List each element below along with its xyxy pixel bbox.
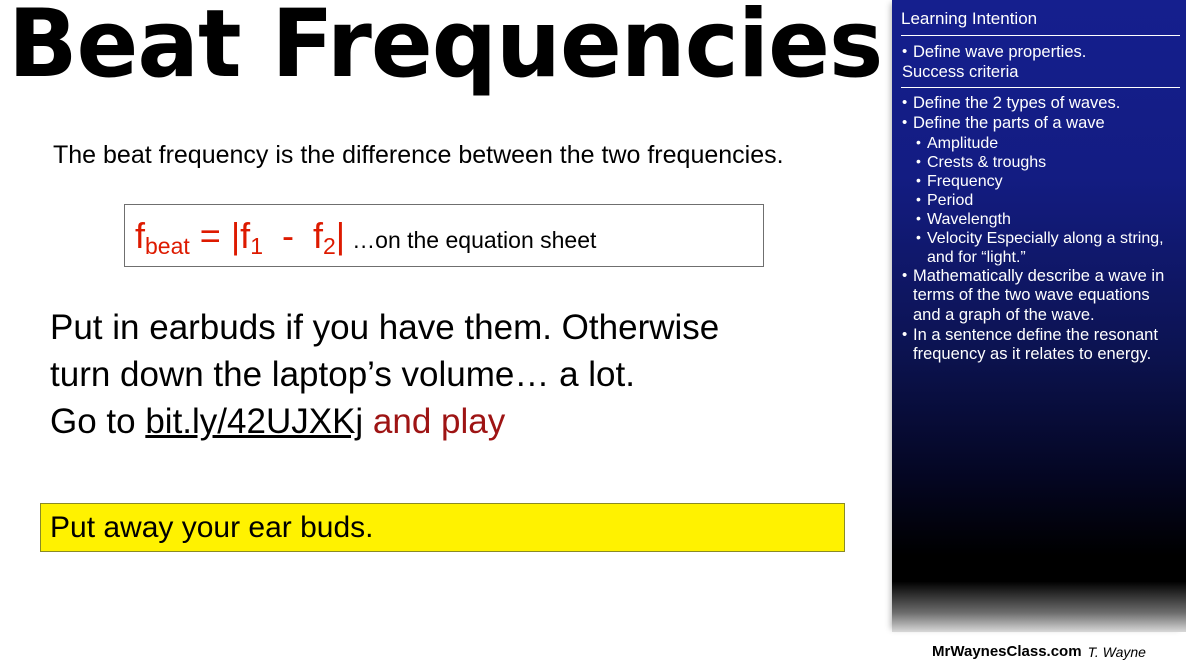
bullet-icon: • — [916, 191, 927, 208]
bitly-link[interactable]: bit.ly/42UJXKj — [145, 402, 363, 441]
formula-equals: = — [190, 215, 231, 256]
list-item: • Define the 2 types of waves. — [892, 94, 1186, 114]
learning-objectives-panel: Learning Intention • Define wave propert… — [892, 0, 1186, 632]
highlight-callout-box: Put away your ear buds. — [40, 503, 845, 552]
footer-author-name: T. Wayne — [1082, 644, 1146, 660]
bullet-icon: • — [902, 43, 913, 61]
bullet-icon: • — [916, 172, 927, 189]
formula-abs-open: | — [231, 215, 240, 256]
bullet-icon: • — [916, 153, 927, 170]
list-item: • Velocity Especially along a string, an… — [892, 229, 1186, 267]
highlight-callout-text: Put away your ear buds. — [41, 511, 374, 545]
instruction-line-3: Go to bit.ly/42UJXKj and play — [50, 399, 850, 446]
formula-f-beat-subscript: beat — [145, 233, 190, 259]
and-play-text: and play — [363, 402, 505, 441]
list-item-label: Amplitude — [927, 134, 1180, 153]
bullet-icon: • — [916, 134, 927, 151]
formula-f1-subscript: 1 — [250, 233, 263, 259]
formula-f1: f — [240, 215, 250, 256]
list-item-label: Mathematically describe a wave in terms … — [913, 267, 1180, 326]
intro-sentence: The beat frequency is the difference bet… — [53, 140, 784, 171]
footer-site-name: MrWaynesClass.com — [932, 643, 1082, 660]
instruction-line-2: turn down the laptop’s volume… a lot. — [50, 352, 850, 399]
bullet-icon: • — [902, 267, 913, 285]
bullet-icon: • — [902, 94, 913, 112]
list-item: • Frequency — [892, 172, 1186, 191]
list-item-label: Period — [927, 191, 1180, 210]
bullet-icon: • — [916, 210, 927, 227]
instruction-line-1: Put in earbuds if you have them. Otherwi… — [50, 305, 850, 352]
list-item: • Define wave properties. — [892, 43, 1186, 63]
slide-main-area: Beat Frequencies The beat frequency is t… — [0, 0, 884, 667]
list-item-label: Wavelength — [927, 210, 1180, 229]
panel-header-title: Learning Intention — [892, 0, 1186, 35]
list-item: • Period — [892, 191, 1186, 210]
formula-f-beat: f — [135, 215, 145, 256]
success-criteria-heading: Success criteria — [892, 63, 1186, 83]
learning-intention-list: • Define wave properties. Success criter… — [892, 36, 1186, 87]
footer-credit: MrWaynesClass.com T. Wayne — [892, 636, 1186, 667]
list-item-label: Define wave properties. — [913, 43, 1180, 63]
formula-abs-close: | — [336, 215, 345, 256]
list-item: • Crests & troughs — [892, 153, 1186, 172]
page-title: Beat Frequencies — [8, 0, 842, 95]
list-item-label: Crests & troughs — [927, 153, 1180, 172]
equation-sheet-note: …on the equation sheet — [345, 227, 596, 254]
list-item-label: Define the 2 types of waves. — [913, 94, 1180, 114]
list-item-label: Velocity Especially along a string, and … — [927, 229, 1180, 267]
bullet-icon: • — [916, 229, 927, 246]
list-item-label: In a sentence define the resonant freque… — [913, 326, 1180, 365]
goto-prefix: Go to — [50, 402, 145, 441]
formula-minus: - — [272, 215, 304, 256]
list-item-label: Define the parts of a wave — [913, 114, 1180, 134]
bullet-icon: • — [902, 326, 913, 344]
instruction-paragraph: Put in earbuds if you have them. Otherwi… — [50, 305, 850, 446]
list-item: • Define the parts of a wave — [892, 114, 1186, 134]
formula-box: fbeat = |f1 - f2| …on the equation sheet — [124, 204, 764, 267]
formula-f2: f — [313, 215, 323, 256]
bullet-icon: • — [902, 114, 913, 132]
success-criteria-list: • Define the 2 types of waves. • Define … — [892, 88, 1186, 365]
list-item-label: Frequency — [927, 172, 1180, 191]
list-item: • Amplitude — [892, 134, 1186, 153]
list-item: • Wavelength — [892, 210, 1186, 229]
formula-f2-subscript: 2 — [323, 233, 336, 259]
list-item: • In a sentence define the resonant freq… — [892, 326, 1186, 365]
list-item: • Mathematically describe a wave in term… — [892, 267, 1186, 326]
beat-frequency-formula: fbeat = |f1 - f2| — [125, 218, 345, 254]
